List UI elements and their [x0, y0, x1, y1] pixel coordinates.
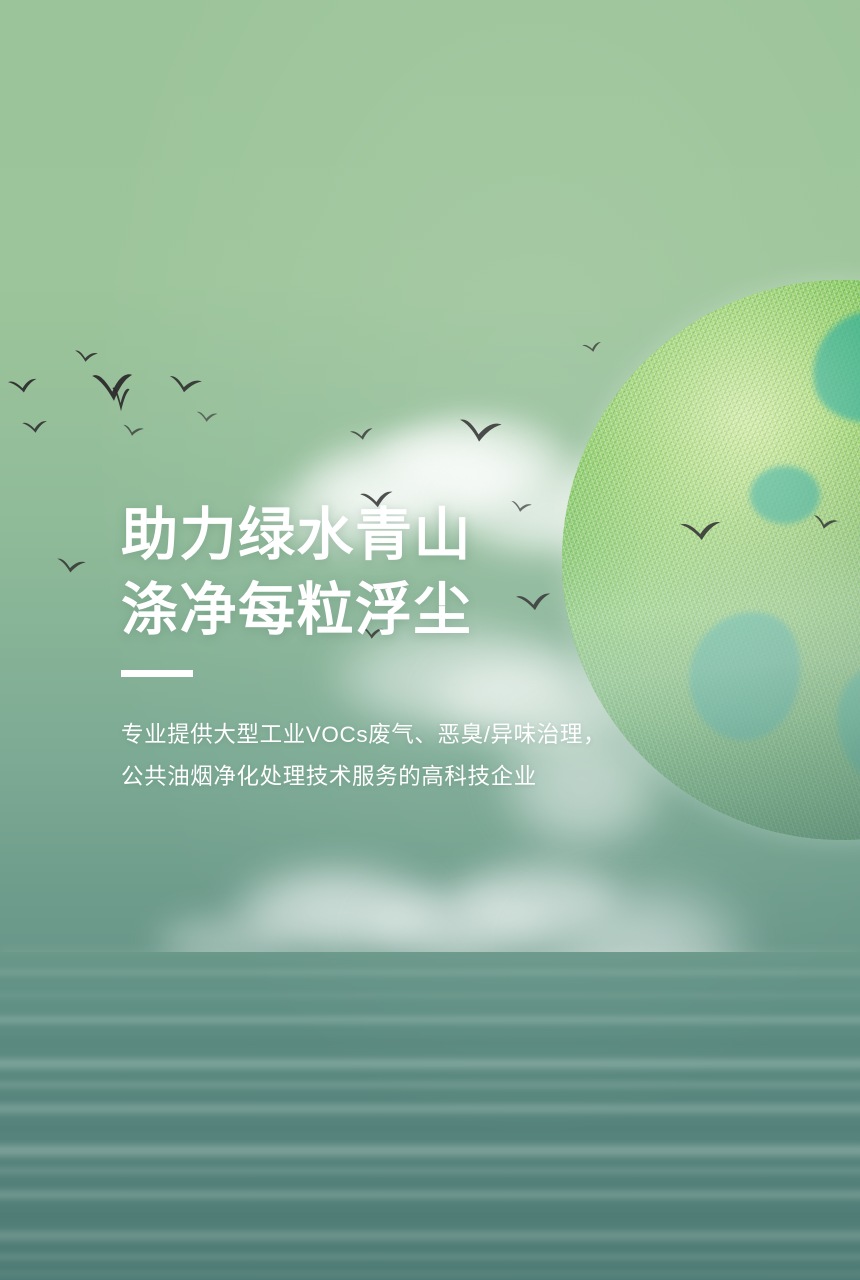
bird-icon	[121, 422, 145, 438]
bird-icon	[7, 376, 39, 396]
water-ripple	[0, 968, 860, 977]
promo-banner: 助力绿水青山 涤净每粒浮尘 专业提供大型工业VOCs废气、恶臭/异味治理， 公共…	[0, 0, 860, 1280]
water-ripple	[0, 1080, 860, 1090]
headline-line-2: 涤净每粒浮尘	[121, 573, 761, 648]
headline-block: 助力绿水青山 涤净每粒浮尘 专业提供大型工业VOCs废气、恶臭/异味治理， 公共…	[121, 498, 761, 797]
subtitle-line-2: 公共油烟净化处理技术服务的高科技企业	[121, 757, 761, 797]
bird-icon	[55, 556, 87, 575]
water-ripple	[0, 992, 860, 999]
water-ripple	[0, 1166, 860, 1176]
water-ripple	[0, 1228, 860, 1244]
bird-icon	[73, 349, 98, 364]
headline-line-1: 助力绿水青山	[121, 498, 761, 573]
bird-icon	[167, 374, 203, 397]
water-ripple	[0, 1270, 860, 1278]
water-ripple	[0, 1188, 860, 1202]
water-ripple	[0, 1124, 860, 1132]
water-ripple	[0, 1038, 860, 1046]
bird-icon	[21, 419, 48, 436]
water-ripple	[0, 1210, 860, 1219]
bird-icon	[457, 416, 503, 446]
water-surface	[0, 952, 860, 1280]
water-ripple	[0, 1014, 860, 1026]
bird-icon	[112, 384, 130, 414]
bird-flock	[0, 330, 470, 470]
water-ripple	[0, 1142, 860, 1160]
bird-icon	[349, 426, 375, 443]
water-ripple	[0, 1102, 860, 1116]
bird-icon	[196, 409, 219, 423]
water-ripple	[0, 1056, 860, 1072]
headline-divider	[121, 670, 193, 677]
subtitle-line-1: 专业提供大型工业VOCs废气、恶臭/异味治理，	[121, 715, 761, 755]
water-ripple	[0, 1252, 860, 1262]
